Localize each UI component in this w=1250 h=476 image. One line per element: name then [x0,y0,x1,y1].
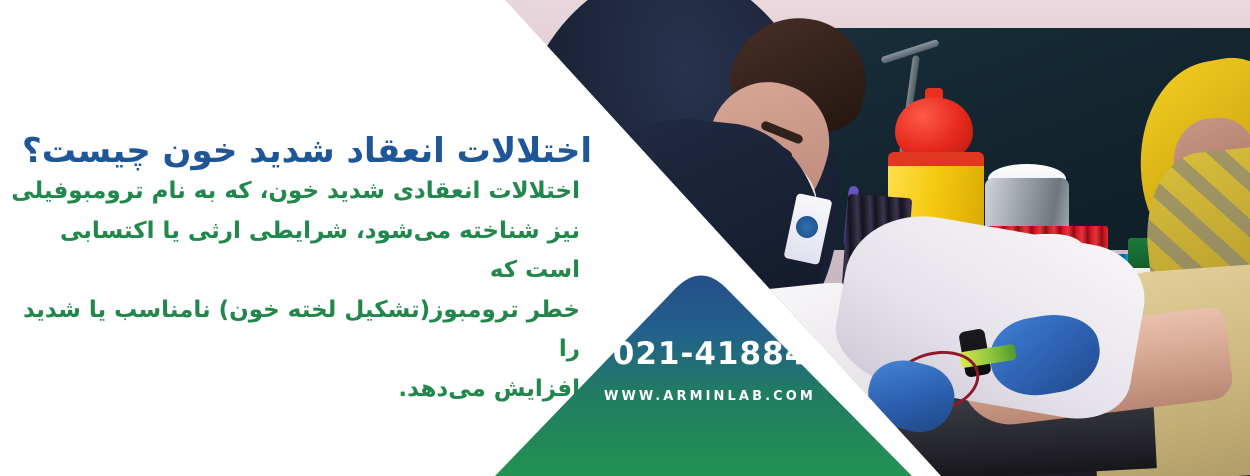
promotional-banner: اختلالات انعقاد شدید خون چیست؟ اختلالات … [0,0,1250,476]
phone-number[interactable]: 021-41884 [560,336,860,372]
sharps-container-red-lid [895,98,973,160]
website-url[interactable]: WWW.ARMINLAB.COM [560,389,860,404]
contact-block: 021-41884 WWW.ARMINLAB.COM [560,336,860,404]
body-line: افزایش می‌دهد. [0,370,580,410]
sharps-container-band [888,152,984,166]
body-line: اختلالات انعقادی شدید خون، که به نام ترو… [0,172,580,212]
body-paragraph: اختلالات انعقادی شدید خون، که به نام ترو… [0,172,620,409]
page-title: اختلالات انعقاد شدید خون چیست؟ [0,131,620,171]
body-line: خطر ترومبوز(تشکیل لخته خون) نامناسب یا ش… [0,291,580,370]
body-line: نیز شناخته می‌شود، شرایطی ارثی یا اکتساب… [0,212,580,291]
